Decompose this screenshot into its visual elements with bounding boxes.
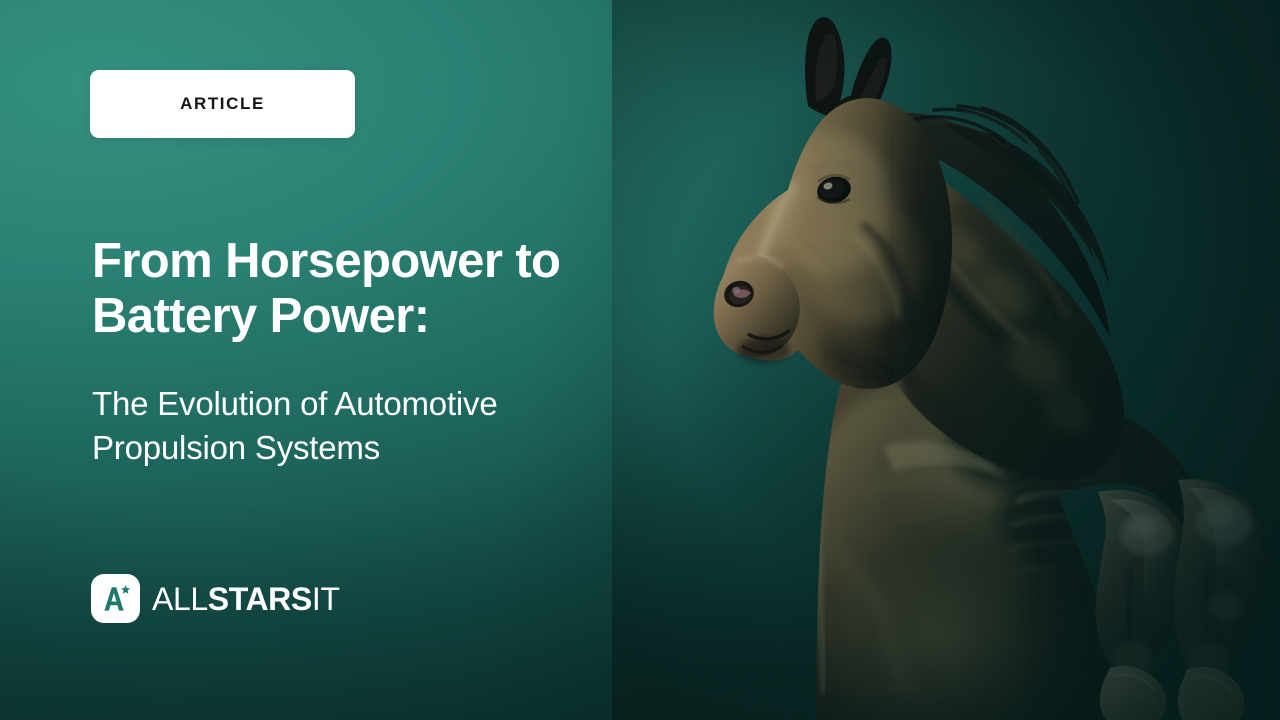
rearing-horse-illustration	[612, 0, 1280, 720]
logo-mark-icon	[91, 574, 140, 623]
logo-word-it: IT	[312, 581, 340, 617]
logo-wordmark: ALLSTARSIT	[152, 583, 339, 615]
banner-content: ARTICLE From Horsepower to Battery Power…	[90, 0, 690, 720]
article-banner: ARTICLE From Horsepower to Battery Power…	[0, 0, 1280, 720]
article-badge-label: ARTICLE	[180, 94, 265, 114]
headline-line-2: Battery Power:	[92, 289, 672, 344]
article-badge: ARTICLE	[90, 70, 355, 138]
logo-word-stars: STARS	[208, 581, 312, 617]
subheadline-line-1: The Evolution of Automotive	[92, 382, 672, 426]
headline-line-1: From Horsepower to	[92, 234, 672, 289]
headline: From Horsepower to Battery Power:	[92, 234, 672, 344]
subheadline: The Evolution of Automotive Propulsion S…	[92, 382, 672, 470]
logo-word-all: ALL	[152, 581, 208, 617]
allstarsit-logo: ALLSTARSIT	[91, 574, 339, 623]
subheadline-line-2: Propulsion Systems	[92, 426, 672, 470]
